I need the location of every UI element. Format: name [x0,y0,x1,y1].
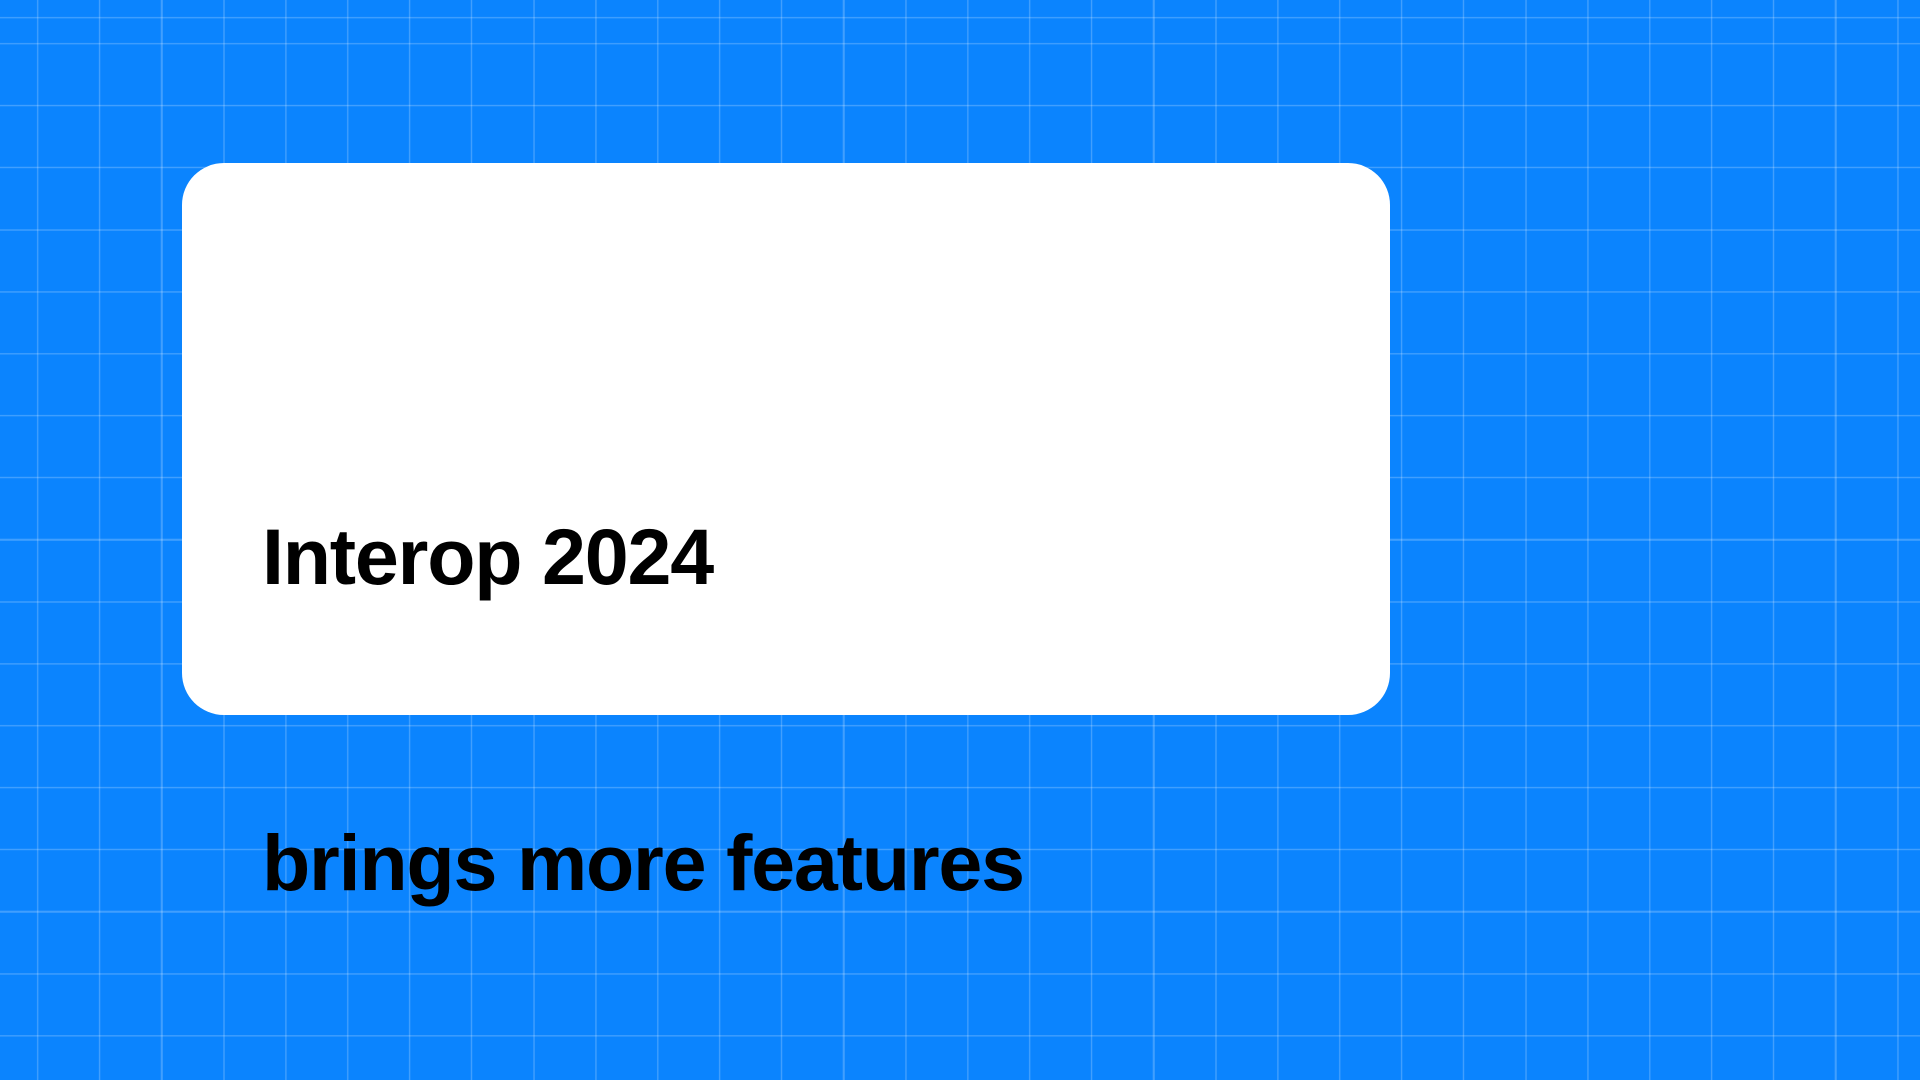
title-card: Interop 2024 brings more features to Bas… [182,163,1390,715]
page-title-line-2: brings more features [262,812,1024,914]
page-title-line-1: Interop 2024 [262,506,1024,608]
page-title: Interop 2024 brings more features to Bas… [262,302,1024,1080]
hero-banner: Interop 2024 brings more features to Bas… [0,0,1920,1080]
